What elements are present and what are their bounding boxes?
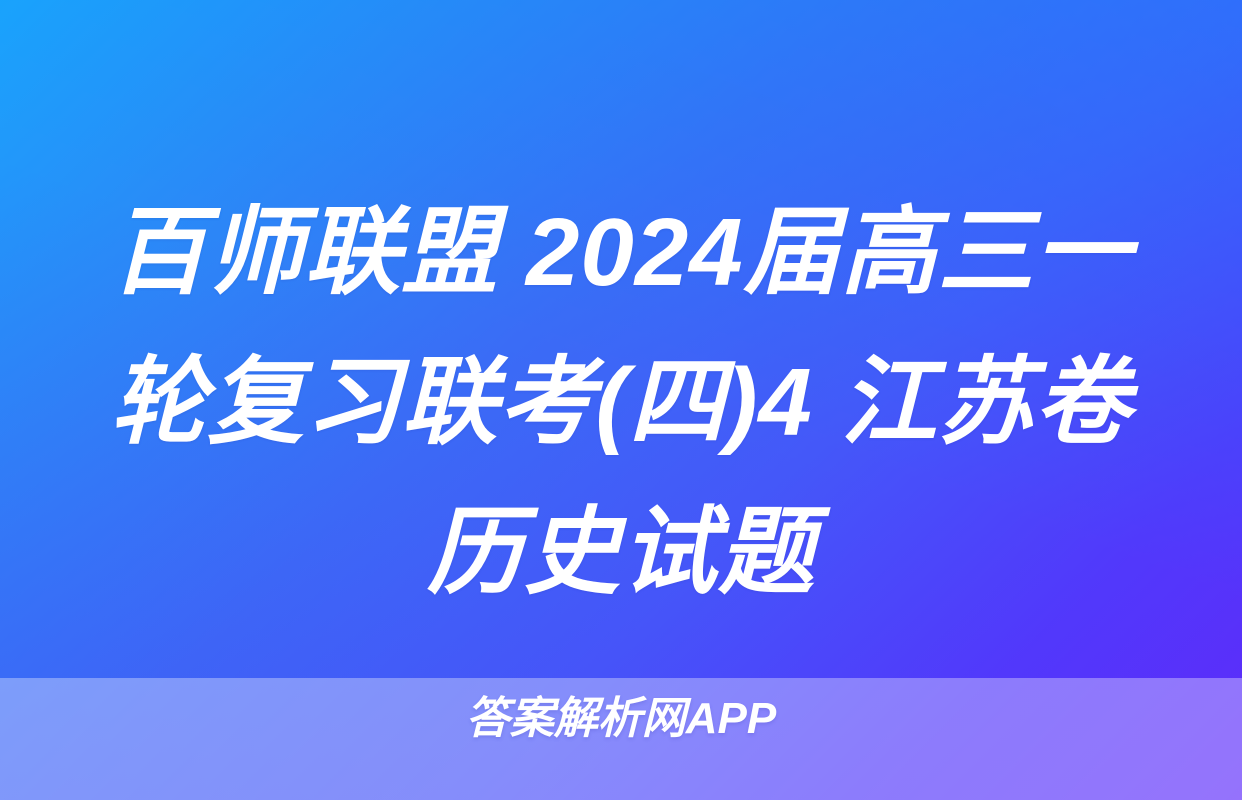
title-line-2: 轮复习联考(四)4 江苏卷 [0,328,1242,478]
title-line-1: 百师联盟 2024届高三一 [0,178,1242,328]
title-line-3: 历史试题 [0,478,1242,628]
watermark-app-label: 答案解析网APP [466,694,776,744]
poster-banner: 百师联盟 2024届高三一 轮复习联考(四)4 江苏卷 历史试题 答案解析网AP… [0,0,1242,800]
watermark-band: 答案解析网APP [0,678,1242,800]
page-title: 百师联盟 2024届高三一 轮复习联考(四)4 江苏卷 历史试题 [0,178,1242,628]
